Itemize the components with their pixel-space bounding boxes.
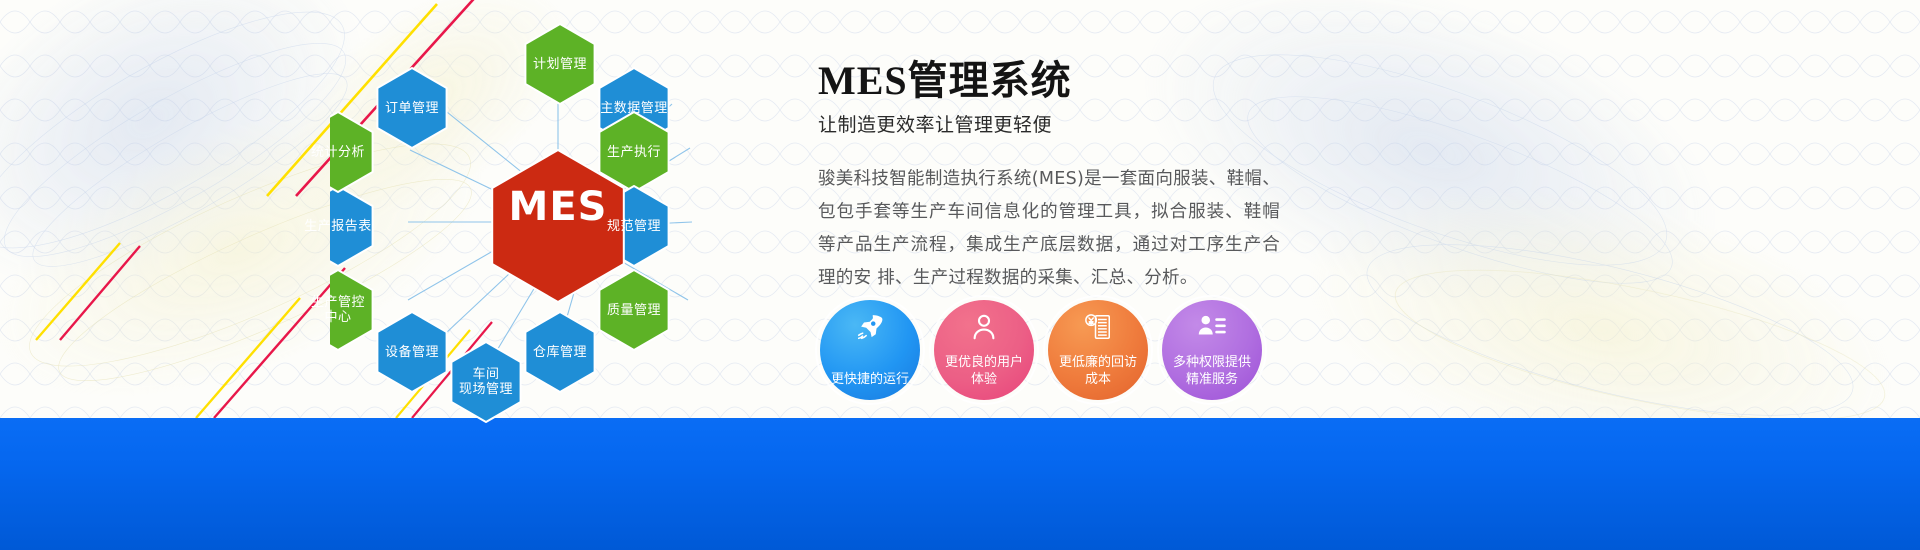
feature-badge-4-label: 多种权限提供 精准服务 <box>1164 354 1260 388</box>
user-icon <box>934 312 1034 342</box>
hex-node-statistical-analysis[interactable] <box>330 112 373 192</box>
hex-node-workshop-site-management[interactable] <box>451 342 520 422</box>
hex-node-production-control-center[interactable] <box>330 270 373 350</box>
feature-badge-list: 更快捷的运行更优良的用户 体验更低廉的回访 成本多种权限提供 精准服务 <box>820 300 1262 400</box>
banner-text-block: MES管理系统 让制造更效率让管理更轻便 骏美科技智能制造执行系统(MES)是一… <box>818 58 1518 295</box>
money-stack-icon <box>1048 312 1148 342</box>
user-list-icon <box>1162 312 1262 342</box>
page-subtitle: 让制造更效率让管理更轻便 <box>818 110 1518 137</box>
feature-badge-3[interactable]: 更低廉的回访 成本 <box>1048 300 1148 400</box>
feature-badge-1[interactable]: 更快捷的运行 <box>820 300 920 400</box>
hexagon-tiles <box>330 24 669 422</box>
description-paragraph: 骏美科技智能制造执行系统(MES)是一套面向服装、鞋帽、包包手套等生产车间信息化… <box>818 163 1280 295</box>
hex-node-order-management[interactable] <box>377 68 446 148</box>
feature-badge-1-label: 更快捷的运行 <box>822 371 918 388</box>
hex-node-warehouse-management[interactable] <box>525 312 594 392</box>
feature-badge-2-label: 更优良的用户 体验 <box>936 354 1032 388</box>
hex-node-quality-management[interactable] <box>599 270 668 350</box>
hex-node-equipment-management[interactable] <box>377 312 446 392</box>
hex-node-plan-management[interactable] <box>525 24 594 104</box>
rocket-icon <box>820 312 920 342</box>
hexagon-shapes <box>330 0 800 440</box>
page-title: MES管理系统 <box>818 58 1518 104</box>
feature-badge-4[interactable]: 多种权限提供 精准服务 <box>1162 300 1262 400</box>
mes-hexagon-diagram: 计划管理主数据管理生产执行规范管理质量管理仓库管理车间 现场管理设备管理生产管控… <box>330 0 800 440</box>
feature-badge-2[interactable]: 更优良的用户 体验 <box>934 300 1034 400</box>
feature-badge-3-label: 更低廉的回访 成本 <box>1050 354 1146 388</box>
hex-node-production-report[interactable] <box>330 186 373 266</box>
bottom-blue-band <box>0 418 1920 550</box>
mes-banner: 计划管理主数据管理生产执行规范管理质量管理仓库管理车间 现场管理设备管理生产管控… <box>0 0 1920 550</box>
